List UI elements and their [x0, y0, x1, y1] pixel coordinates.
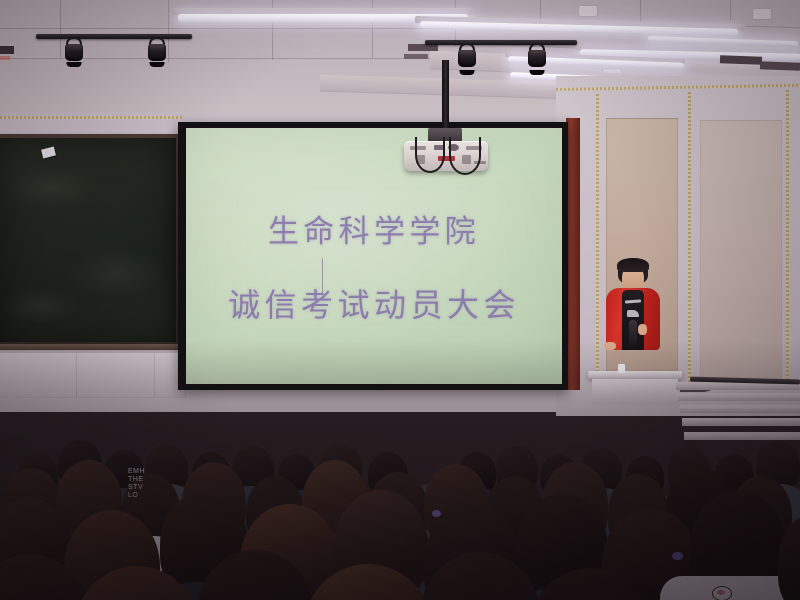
presenter-hand — [638, 324, 647, 335]
projector-drop-pole — [442, 60, 449, 138]
projector-cable — [415, 137, 445, 173]
blackboard — [0, 138, 176, 342]
fluorescent-tube — [648, 36, 798, 46]
slide-line-1: 生命科学学院 — [186, 206, 562, 251]
audience-head — [778, 516, 800, 600]
slide-line-2: 诚信考试动员大会 — [186, 280, 562, 326]
audience-head — [528, 568, 652, 600]
audience-head — [420, 552, 540, 600]
shirt-graphic — [627, 310, 639, 317]
hair-tie — [672, 552, 683, 560]
tee-graphic-text: EMH THE STV LO — [128, 468, 145, 500]
wall-trim — [0, 116, 182, 119]
track-spotlight — [525, 43, 549, 73]
lecture-hall-photo: 生命科学学院 诚信考试动员大会 — [0, 0, 800, 600]
track-spotlight — [145, 37, 169, 65]
track-spotlight — [455, 43, 479, 73]
track-spotlight — [62, 37, 86, 65]
tee-cartoon-print — [717, 590, 725, 595]
lighting-track-rail — [425, 40, 577, 45]
ceiling-diffuser — [578, 5, 598, 17]
audience: E VCOL — [0, 340, 800, 600]
audience-head — [196, 550, 314, 600]
projector-cable — [449, 137, 481, 175]
ceiling-diffuser — [752, 8, 772, 20]
audience-head — [74, 566, 200, 600]
audience-head — [304, 564, 432, 600]
